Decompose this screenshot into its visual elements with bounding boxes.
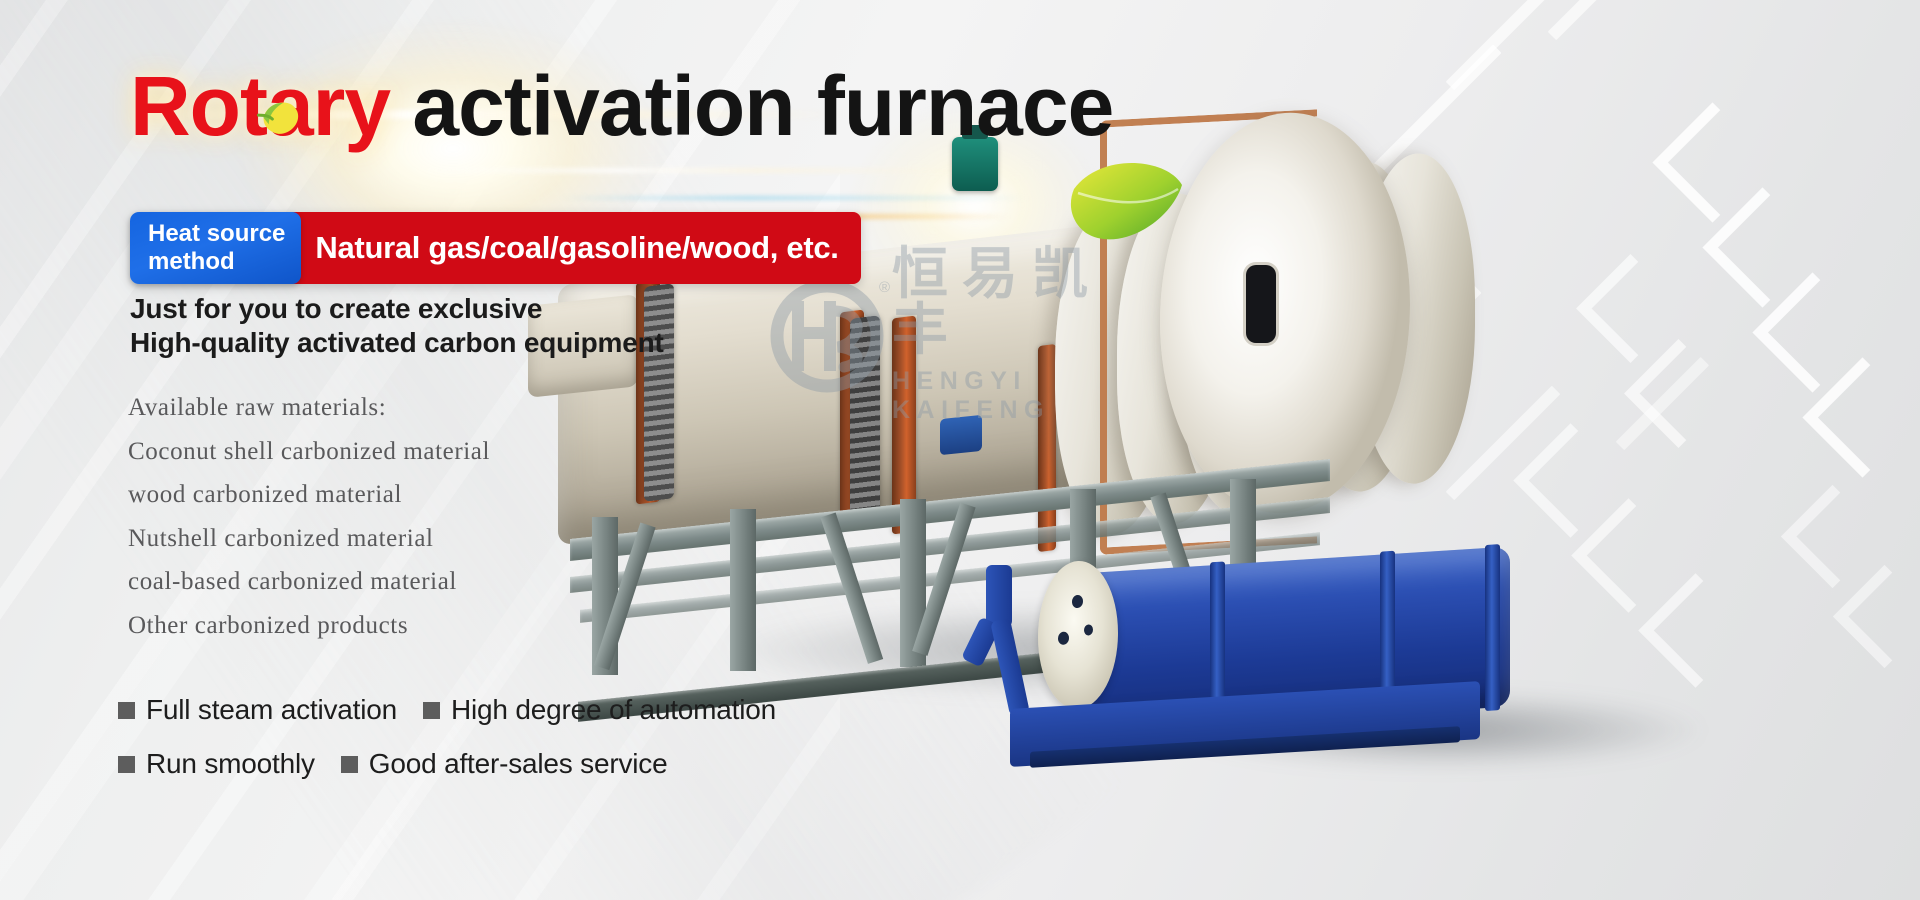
heat-source-label-line2: method [148, 248, 285, 275]
raw-material-item: coal-based carbonized material [128, 560, 490, 604]
feature-item: High degree of automation [423, 694, 776, 726]
feature-label: Run smoothly [146, 748, 315, 780]
yoke-pipe [990, 618, 1030, 716]
company-watermark: ® 恒易凯丰 HENGYI KAIFENG [768, 272, 1168, 400]
product-banner: ® 恒易凯丰 HENGYI KAIFENG Rotary activation … [0, 0, 1920, 900]
leaf-icon-large [1070, 159, 1188, 251]
feature-item: Run smoothly [118, 748, 315, 780]
feature-row: Full steam activation High degree of aut… [118, 694, 802, 726]
tagline: Just for you to create exclusive High-qu… [130, 292, 664, 360]
watermark-text: 恒易凯丰 HENGYI KAIFENG [892, 247, 1168, 425]
tagline-line1: Just for you to create exclusive [130, 292, 664, 326]
feature-row: Run smoothly Good after-sales service [118, 748, 802, 780]
tank-bolt [1058, 631, 1069, 645]
raw-material-item: Nutshell carbonized material [128, 517, 490, 561]
raw-materials-list: Available raw materials: Coconut shell c… [128, 386, 490, 647]
yoke-pipe [986, 565, 1012, 627]
page-title: Rotary activation furnace [130, 64, 1113, 148]
bullet-square-icon [118, 702, 135, 719]
raw-materials-heading: Available raw materials: [128, 386, 490, 430]
heat-source-label-line1: Heat source [148, 220, 285, 247]
raw-material-item: wood carbonized material [128, 473, 490, 517]
heat-source-badge: Heat source method Natural gas/coal/gaso… [130, 212, 861, 284]
headline-rest-words: activation furnace [390, 59, 1113, 153]
tank-inlet-yoke [970, 565, 1026, 715]
feature-label: Good after-sales service [369, 748, 668, 780]
tank-bolt [1084, 624, 1093, 635]
product-photo [540, 95, 1920, 795]
watermark-chinese: 恒易凯丰 [892, 247, 1168, 359]
bullet-square-icon [423, 702, 440, 719]
heat-source-label: Heat source method [130, 212, 301, 284]
tank-ring [1485, 544, 1500, 711]
frame-leg [730, 509, 756, 671]
feature-item: Full steam activation [118, 694, 397, 726]
tank-bolt [1072, 595, 1083, 609]
tagline-line2: High-quality activated carbon equipment [130, 326, 664, 360]
company-logo-icon: ® [768, 277, 886, 395]
feature-list: Full steam activation High degree of aut… [118, 694, 802, 802]
feature-item: Good after-sales service [341, 748, 668, 780]
diagonal-bar [1446, 0, 1617, 90]
bullet-square-icon [118, 756, 135, 773]
feature-label: Full steam activation [146, 694, 397, 726]
bullet-square-icon [341, 756, 358, 773]
kiln-inspection-port [1246, 265, 1276, 343]
raw-material-item: Other carbonized products [128, 604, 490, 648]
watermark-english: HENGYI KAIFENG [892, 367, 1168, 425]
diagonal-bar [1548, 0, 1705, 40]
heat-source-value-text: Natural gas/coal/gasoline/wood, etc. [315, 230, 838, 266]
feature-label: High degree of automation [451, 694, 776, 726]
registered-mark: ® [879, 279, 890, 296]
raw-material-item: Coconut shell carbonized material [128, 430, 490, 474]
